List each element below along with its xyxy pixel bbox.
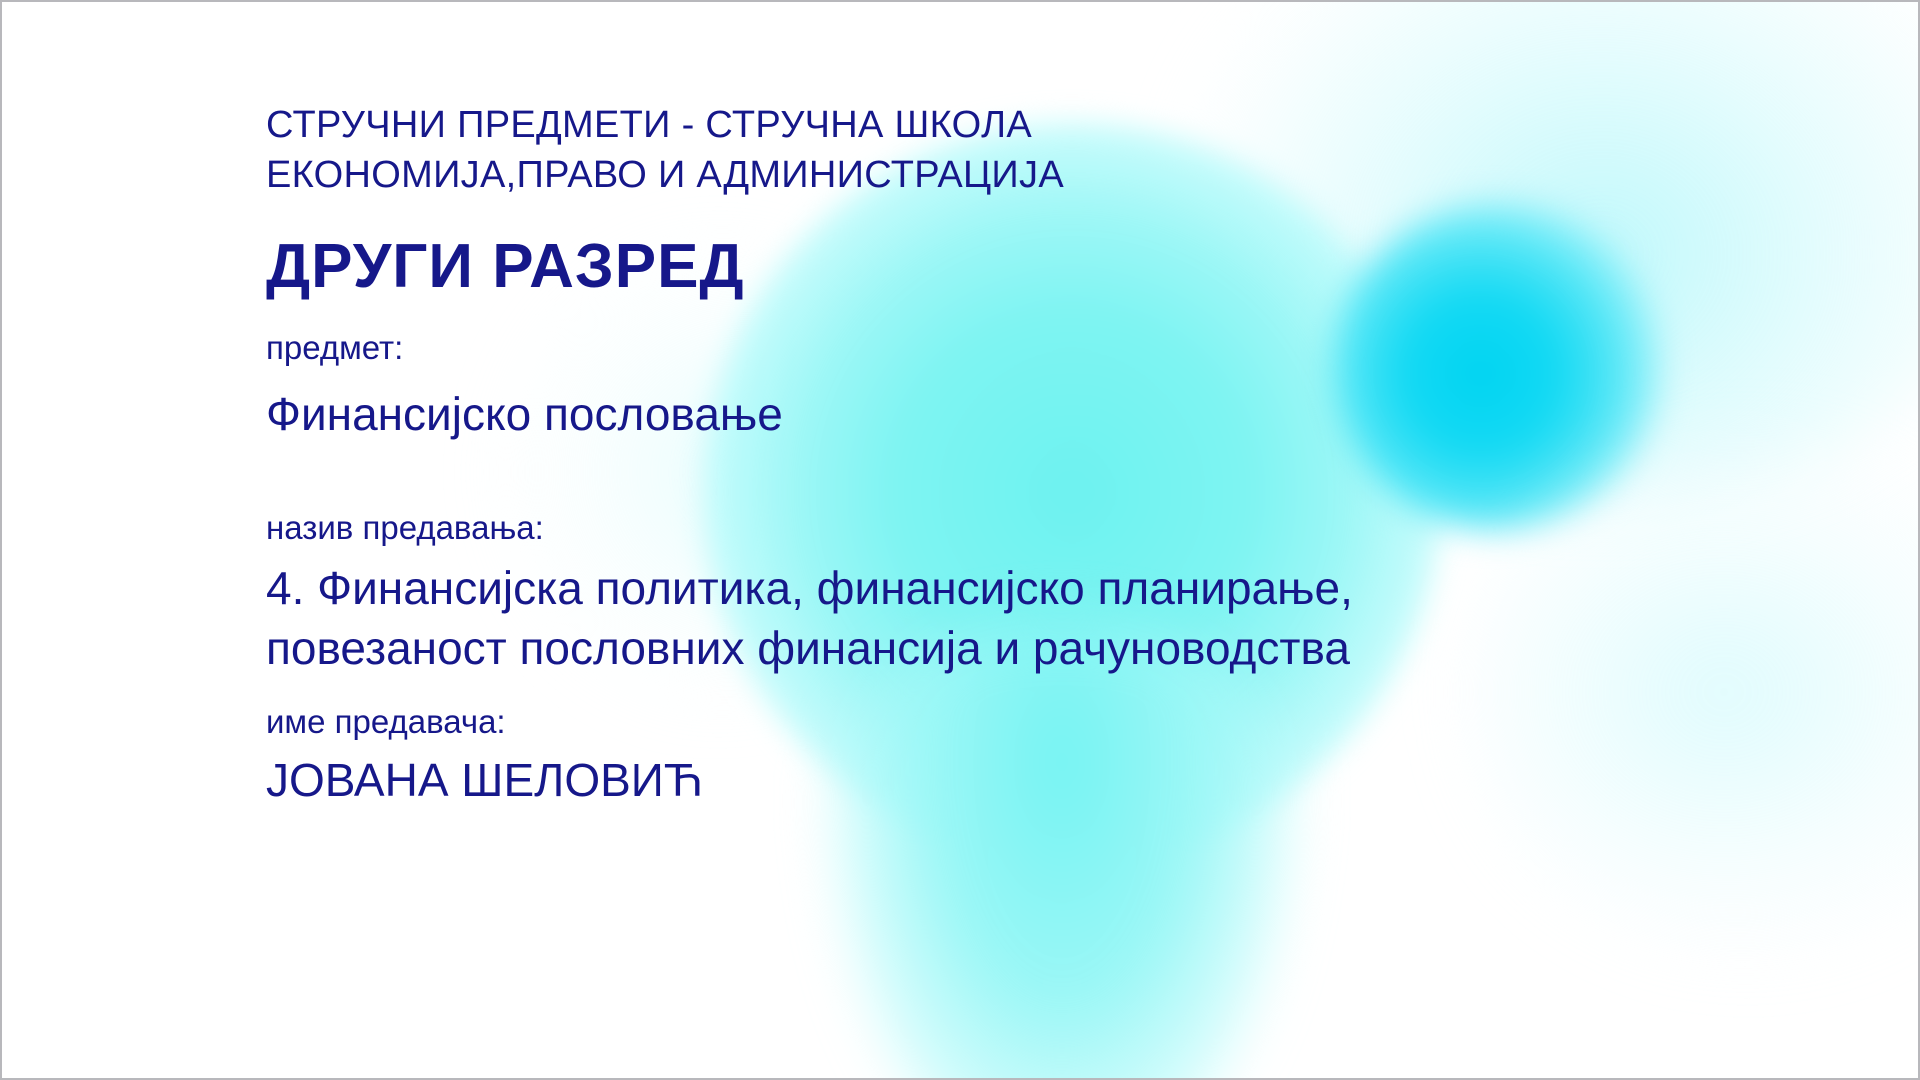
lecturer-name: ЈОВАНА ШЕЛОВИЋ [266,750,1746,810]
grade-heading: ДРУГИ РАЗРЕД [266,230,1746,304]
lecture-title-value: 4. Финансијска политика, финансијско пла… [266,558,1746,678]
lecturer-label: име предавача: [266,700,1746,744]
title-slide: СТРУЧНИ ПРЕДМЕТИ - СТРУЧНА ШКОЛА ЕКОНОМИ… [0,0,1920,1080]
subject-label: предмет: [266,326,1746,370]
slide-text-block: СТРУЧНИ ПРЕДМЕТИ - СТРУЧНА ШКОЛА ЕКОНОМИ… [266,100,1746,810]
lecture-title-line-2: повезаност пословних финансија и рачунов… [266,618,1746,678]
school-program-line-1: СТРУЧНИ ПРЕДМЕТИ - СТРУЧНА ШКОЛА [266,100,1746,150]
school-program-line-2: ЕКОНОМИЈА,ПРАВО И АДМИНИСТРАЦИЈА [266,150,1746,200]
lecture-title-line-1: 4. Финансијска политика, финансијско пла… [266,558,1746,618]
subject-value: Финансијско пословање [266,384,1746,444]
lecture-title-label: назив предавања: [266,506,1746,550]
